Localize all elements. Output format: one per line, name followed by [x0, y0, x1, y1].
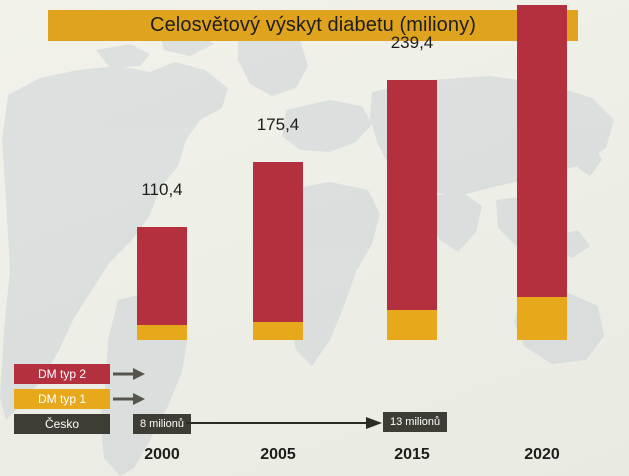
legend-item-type2[interactable]: DM typ 2 — [14, 364, 110, 384]
legend-arrow-type1-icon — [113, 393, 145, 405]
bar-segment-type2-2005 — [253, 162, 303, 322]
legend-label-type2: DM typ 2 — [38, 367, 86, 381]
bar-segment-type2-2020 — [517, 5, 567, 297]
callout-czechia-2015: 13 milionů — [383, 412, 447, 432]
bar-segment-type1-2005 — [253, 322, 303, 340]
legend-label-czechia: Česko — [45, 417, 79, 431]
legend-item-type1[interactable]: DM typ 1 — [14, 389, 110, 409]
bar-segment-type1-2020 — [517, 297, 567, 340]
callout-connector-arrow-icon — [186, 415, 386, 431]
callout-czechia-2000: 8 milionů — [133, 414, 191, 434]
bar-segment-type1-2000 — [137, 325, 187, 340]
bar-segment-type2-2000 — [137, 227, 187, 325]
axis-label-2005: 2005 — [231, 446, 325, 464]
legend-label-type1: DM typ 1 — [38, 392, 86, 406]
callout-2015-label: 13 milionů — [390, 416, 440, 428]
legend-item-czechia[interactable]: Česko — [14, 414, 110, 434]
bar-value-2005: 175,4 — [231, 115, 325, 135]
axis-label-2000: 2000 — [115, 446, 209, 464]
bar-value-2015: 239,4 — [365, 33, 459, 53]
infographic-canvas: Celosvětový výskyt diabetu (miliony) 110… — [0, 0, 629, 476]
axis-label-2015: 2015 — [365, 446, 459, 464]
bar-value-2000: 110,4 — [115, 180, 209, 200]
bar-segment-type2-2015 — [387, 80, 437, 310]
callout-2000-label: 8 milionů — [140, 418, 184, 430]
bar-segment-type1-2015 — [387, 310, 437, 340]
axis-label-2020: 2020 — [495, 446, 589, 464]
legend-arrow-type2-icon — [113, 368, 145, 380]
